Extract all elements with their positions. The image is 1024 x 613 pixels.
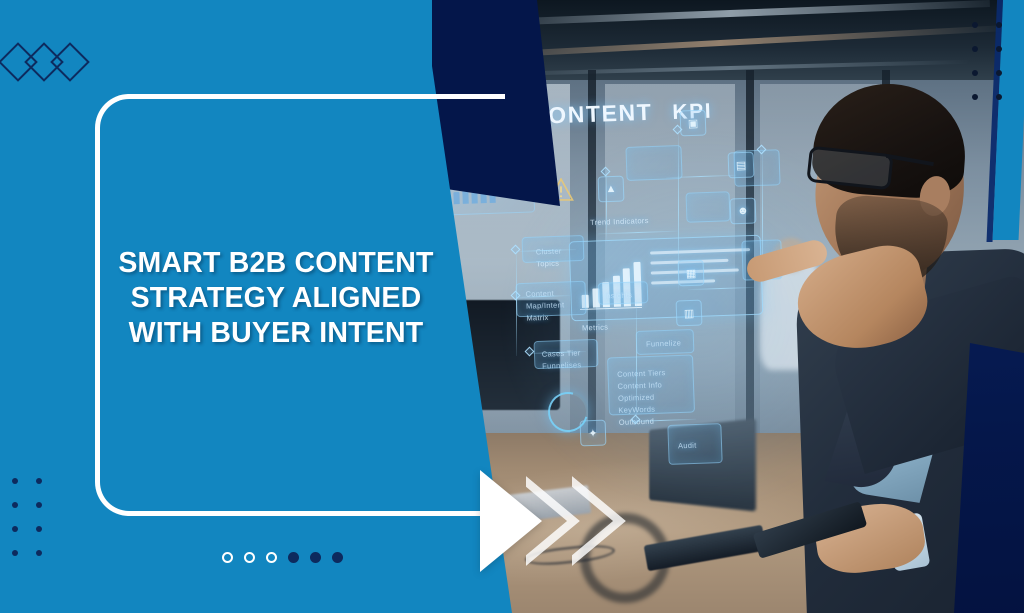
- pagination-dot[interactable]: [310, 552, 321, 563]
- window-strip: [605, 84, 735, 444]
- decor-dot: [36, 502, 42, 508]
- pagination-dot[interactable]: [222, 552, 233, 563]
- decor-dot: [996, 46, 1002, 52]
- pagination-dot-active[interactable]: [288, 552, 299, 563]
- decor-dot: [12, 550, 18, 556]
- headline-line-1: SMART B2B CONTENT: [96, 246, 456, 281]
- decor-dot: [972, 46, 978, 52]
- banner-slide: /CONTENTKPI Case Study: [0, 0, 1024, 613]
- carousel-pagination[interactable]: [222, 552, 343, 563]
- dot-grid-decor-right: [972, 22, 1002, 100]
- decor-dot: [972, 22, 978, 28]
- decor-dot: [972, 70, 978, 76]
- decor-dot: [972, 94, 978, 100]
- pagination-dot[interactable]: [266, 552, 277, 563]
- headline-line-3: WITH BUYER INTENT: [96, 316, 456, 351]
- diamond-pattern-decor: [2, 42, 112, 88]
- decor-dot: [996, 22, 1002, 28]
- decor-dot: [36, 550, 42, 556]
- chevron-right-icon: [572, 476, 626, 566]
- decor-dot: [996, 70, 1002, 76]
- diamond-shape: [50, 42, 90, 82]
- pagination-dot[interactable]: [244, 552, 255, 563]
- pagination-dot[interactable]: [332, 552, 343, 563]
- headline-line-2: STRATEGY ALIGNED: [96, 281, 456, 316]
- decor-dot: [12, 502, 18, 508]
- next-slide-button[interactable]: [480, 466, 660, 576]
- dot-grid-decor-left: [12, 478, 42, 556]
- decor-dot: [12, 478, 18, 484]
- decor-dot: [36, 526, 42, 532]
- frame-top-extension: [330, 94, 460, 99]
- decor-dot: [12, 526, 18, 532]
- page-title: SMART B2B CONTENT STRATEGY ALIGNED WITH …: [96, 246, 456, 350]
- glass-mullion: [588, 70, 596, 490]
- decor-dot: [36, 478, 42, 484]
- decor-dot: [996, 94, 1002, 100]
- desk-laptop: [649, 418, 756, 511]
